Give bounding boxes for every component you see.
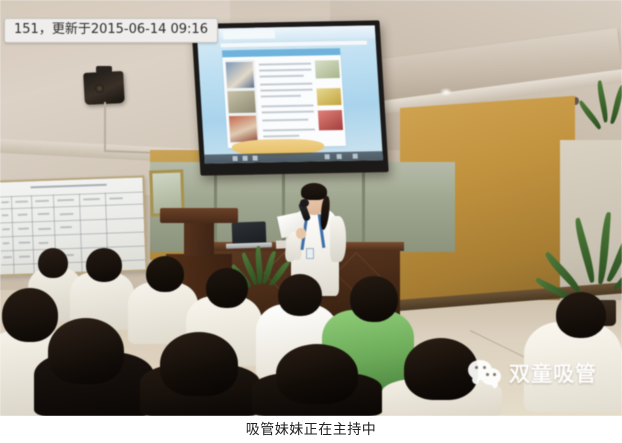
webpage-text-line — [262, 111, 314, 113]
whiteboard-writing — [2, 228, 10, 230]
whiteboard-writing — [1, 201, 9, 203]
webpage-header — [222, 48, 341, 57]
whiteboard-writing — [57, 199, 74, 201]
projection-screen-image — [197, 25, 383, 163]
whiteboard-writing — [2, 214, 9, 216]
webpage-text-line — [263, 129, 315, 131]
webpage-text-line — [260, 75, 304, 77]
presenter-id-badge — [306, 248, 314, 259]
whiteboard-title — [31, 184, 107, 189]
webpage-thumbnail — [229, 116, 258, 142]
browser-tab — [223, 29, 276, 39]
speaker-cone — [95, 84, 104, 93]
microphone-head — [300, 199, 309, 207]
webpage-side-image — [318, 110, 343, 130]
speaker-wire — [104, 102, 106, 152]
webpage-text-line — [261, 105, 313, 107]
whiteboard-gridline — [0, 231, 144, 237]
wechat-watermark: 双童吸管 — [468, 358, 597, 388]
wechat-icon — [468, 360, 502, 386]
caption-bar: 吸管妹妹正在主持中 — [0, 416, 622, 443]
webpage-thumbnail — [227, 91, 255, 113]
taskbar-icon — [242, 156, 247, 161]
whiteboard-writing — [38, 228, 51, 230]
whiteboard-writing — [3, 256, 12, 258]
webpage-text-line — [262, 119, 308, 121]
podium-top — [160, 208, 238, 223]
taskbar-icon — [337, 154, 342, 159]
whiteboard — [0, 175, 148, 276]
whiteboard-writing — [18, 214, 28, 216]
glass-mullion — [214, 162, 217, 252]
glass-mullion — [362, 162, 365, 252]
whiteboard-writing — [19, 241, 31, 243]
whiteboard-writing — [3, 242, 10, 244]
whiteboard-gridline — [0, 217, 144, 223]
page-root: 双童吸管 151，更新于2015-06-14 09:16 吸管妹妹正在主持中 — [0, 0, 622, 443]
whiteboard-writing — [35, 200, 49, 202]
taskbar-icon — [252, 156, 257, 161]
whiteboard-gridline — [1, 259, 145, 265]
webpage-text-line — [259, 63, 311, 65]
photo-caption: 吸管妹妹正在主持中 — [246, 421, 377, 439]
projection-screen — [191, 20, 388, 175]
plant-upper-right — [596, 80, 622, 150]
whiteboard-gridline — [1, 245, 145, 251]
taskbar-icon — [325, 154, 330, 159]
webpage-text-line — [261, 95, 301, 97]
webpage-text-line — [259, 69, 311, 71]
whiteboard-writing — [83, 198, 100, 200]
whiteboard-writing — [38, 213, 50, 215]
webpage-text-line — [260, 83, 312, 85]
wall-speaker — [83, 71, 125, 105]
timestamp-badge: 151，更新于2015-06-14 09:16 — [4, 18, 218, 43]
whiteboard-writing — [60, 213, 74, 215]
webpage-text-line — [263, 135, 299, 137]
webpage-text-line — [260, 89, 312, 91]
presenter-shoulder-right — [330, 216, 346, 262]
whiteboard-writing — [60, 226, 72, 228]
webpage-thumbnail — [226, 62, 255, 88]
wechat-brand-label: 双童吸管 — [509, 358, 597, 388]
whiteboard-writing — [39, 242, 49, 244]
whiteboard-writing — [18, 227, 29, 229]
taskbar-icon — [353, 154, 358, 159]
webpage-side-image — [315, 60, 340, 78]
ceiling-light — [440, 88, 452, 96]
glass-mullion — [282, 162, 285, 252]
whiteboard-writing — [109, 197, 123, 199]
podium-column — [184, 222, 214, 256]
taskbar-icon — [232, 156, 237, 161]
presenter-hand — [296, 228, 306, 239]
webpage-side-image — [316, 88, 341, 105]
meeting-photo: 双童吸管 151，更新于2015-06-14 09:16 — [0, 0, 622, 416]
whiteboard-gridline — [0, 203, 143, 209]
projected-webpage — [222, 48, 346, 148]
whiteboard-writing — [19, 255, 30, 257]
whiteboard-writing — [15, 200, 28, 202]
